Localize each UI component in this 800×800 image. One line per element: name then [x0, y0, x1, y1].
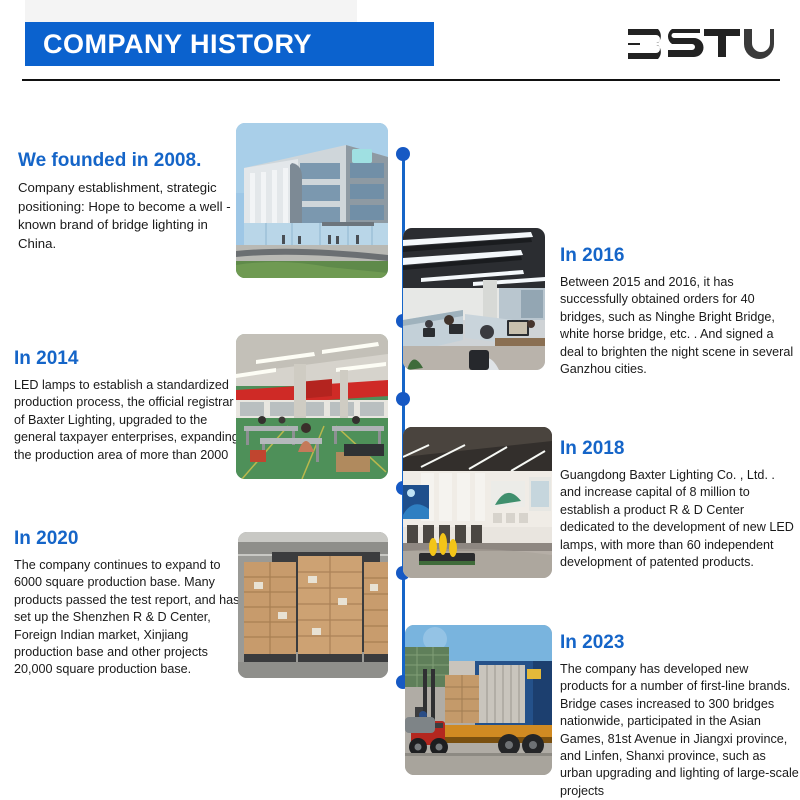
- timeline-entry-2018: In 2018 Guangdong Baxter Lighting Co. , …: [560, 438, 798, 571]
- entry-year-2016: In 2016: [560, 245, 796, 267]
- timeline-entry-2016: In 2016 Between 2015 and 2016, it has su…: [560, 245, 796, 378]
- bstu-wordmark-icon: [624, 24, 774, 64]
- entry-year-2023: In 2023: [560, 632, 800, 654]
- timeline-entry-2020: In 2020 The company continues to expand …: [14, 528, 246, 679]
- entry-body-2008: Company establishment, strategic positio…: [18, 179, 233, 254]
- photo-warehouse-cartons-2020: [238, 532, 388, 678]
- entry-year-2020: In 2020: [14, 528, 246, 550]
- photo-open-office-2016: [403, 228, 545, 370]
- top-decorative-band: [25, 0, 357, 22]
- timeline-entry-2008: We founded in 2008. Company establishmen…: [18, 150, 233, 254]
- timeline-entry-2014: In 2014 LED lamps to establish a standar…: [14, 348, 246, 464]
- entry-body-2014: LED lamps to establish a standardized pr…: [14, 377, 246, 464]
- page-title-bar: COMPANY HISTORY: [25, 22, 434, 66]
- photo-showroom-2018: [403, 427, 552, 578]
- entry-body-2016: Between 2015 and 2016, it has successful…: [560, 274, 796, 378]
- entry-year-2018: In 2018: [560, 438, 798, 460]
- entry-body-2020: The company continues to expand to 6000 …: [14, 557, 246, 679]
- timeline-dot-2008: [396, 147, 410, 161]
- page-title: COMPANY HISTORY: [25, 29, 312, 60]
- entry-year-2014: In 2014: [14, 348, 246, 370]
- entry-body-2018: Guangdong Baxter Lighting Co. , Ltd. . a…: [560, 467, 798, 571]
- entry-body-2023: The company has developed new products f…: [560, 661, 800, 800]
- photo-production-floor-2014: [236, 334, 388, 479]
- timeline-entry-2023: In 2023 The company has developed new pr…: [560, 632, 800, 800]
- page-header: COMPANY HISTORY: [0, 22, 800, 80]
- header-divider: [22, 79, 780, 81]
- photo-shipping-container-2023: [405, 625, 552, 775]
- entry-year-2008: We founded in 2008.: [18, 150, 233, 172]
- timeline-dot-2014: [396, 392, 410, 406]
- photo-office-building-2008: [236, 123, 388, 278]
